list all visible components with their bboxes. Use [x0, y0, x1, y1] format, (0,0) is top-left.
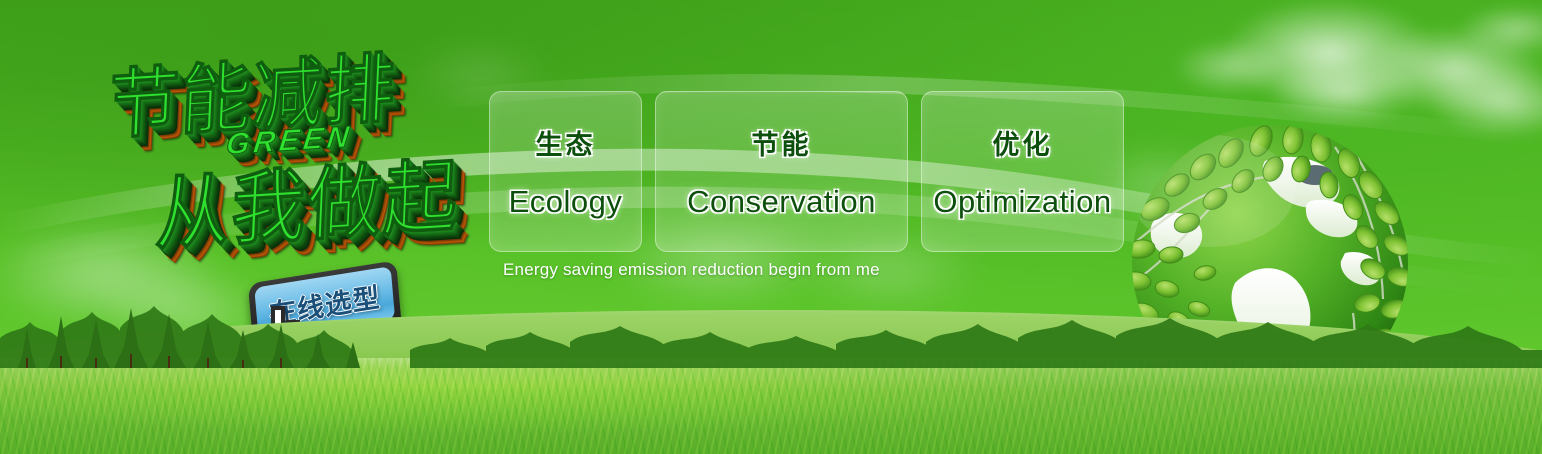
cloud-icon [1435, 0, 1542, 65]
eco-promo-banner: 节能减排 GREEN 从我做起 在线选型 生态 Ecology 节能 Conse… [0, 0, 1542, 454]
feature-card-cn-label: 节能 [752, 123, 812, 162]
cloud-icon [1150, 28, 1310, 106]
cloud-icon [1330, 10, 1542, 130]
feature-card-cn-label: 优化 [993, 123, 1053, 162]
tree-silhouettes [0, 298, 1542, 368]
hero-logo: 节能减排 GREEN 从我做起 [88, 26, 502, 285]
feature-card-en-label: Conservation [687, 184, 876, 220]
logo-line-bottom: 从我做起 [153, 131, 462, 266]
feature-card-list: 生态 Ecology 节能 Conservation 优化 Optimizati… [489, 91, 1124, 252]
meadow-ground [0, 358, 1542, 454]
feature-card-ecology[interactable]: 生态 Ecology [489, 91, 642, 252]
feature-card-cn-label: 生态 [536, 123, 596, 162]
feature-card-optimization[interactable]: 优化 Optimization [921, 91, 1124, 252]
feature-card-conservation[interactable]: 节能 Conservation [655, 91, 908, 252]
cloud-icon [1180, 0, 1480, 128]
feature-card-en-label: Ecology [509, 184, 623, 220]
tagline-text: Energy saving emission reduction begin f… [503, 260, 880, 280]
feature-card-en-label: Optimization [933, 184, 1111, 220]
